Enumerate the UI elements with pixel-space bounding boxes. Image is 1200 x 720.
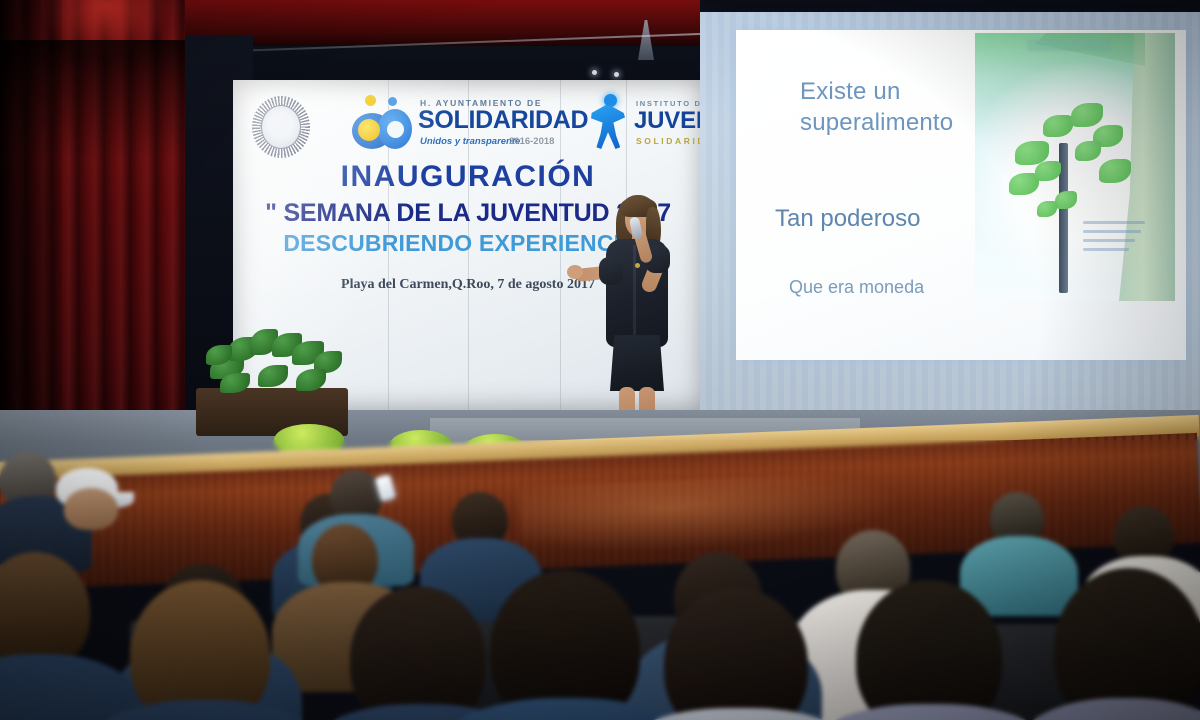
municipal-seal-icon	[252, 96, 310, 158]
seated-audience	[0, 440, 1200, 720]
slide-line-3: Que era moneda	[789, 277, 924, 298]
banner-heading: INAUGURACIÓN	[233, 160, 703, 194]
slide-line-2: Tan poderoso	[775, 205, 920, 233]
audience-head	[664, 588, 808, 720]
solidaridad-logo-icon	[352, 95, 414, 153]
speaker-left-hand	[567, 265, 583, 279]
slide-brand-logo-icon	[1027, 39, 1111, 51]
presentation-photo-scene: H. AYUNTAMIENTO DE SOLIDARIDAD Unidos y …	[0, 0, 1200, 720]
audience-head	[64, 488, 118, 530]
solidaridad-name: SOLIDARIDAD	[418, 106, 588, 135]
slide-image-caption	[1083, 221, 1149, 267]
ceiling-light-icon	[592, 70, 597, 75]
solidaridad-years: 2016-2018	[509, 136, 554, 147]
speaker-pendant	[635, 263, 640, 268]
ceiling-light-icon	[614, 72, 619, 77]
tall-plant-foliage	[206, 327, 346, 393]
juventud-figure-icon	[586, 94, 630, 154]
slide-line-1: Existe un superalimento	[800, 76, 953, 138]
solidaridad-tagline: Unidos y transparente	[420, 136, 520, 147]
audience-head	[350, 586, 486, 720]
slide-tree-illustration	[975, 33, 1175, 301]
audience-head	[130, 580, 270, 720]
curtain-dark-fold	[0, 0, 62, 470]
red-stage-curtain	[0, 0, 185, 470]
